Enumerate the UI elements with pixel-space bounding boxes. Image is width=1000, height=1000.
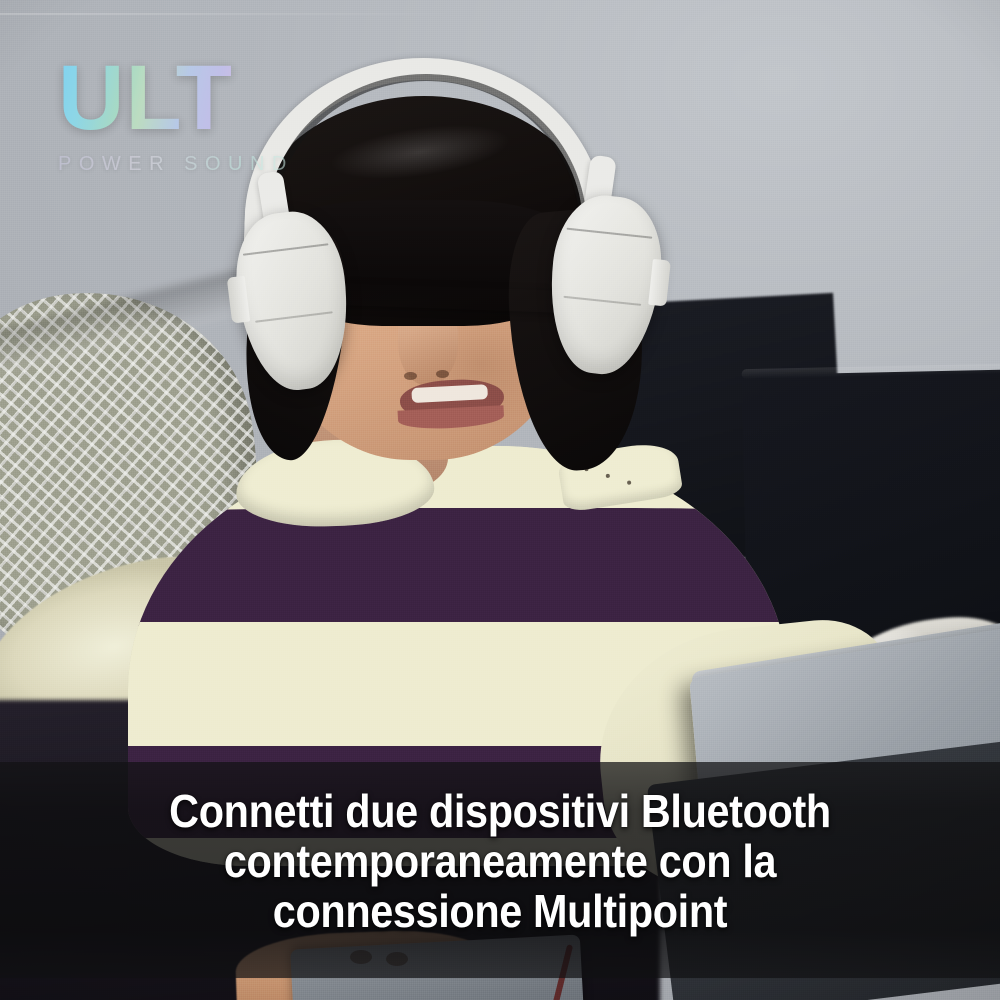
shirt-button-2 (606, 474, 611, 479)
teeth (411, 384, 488, 403)
ult-wordmark: ULT (58, 52, 318, 144)
earcup-seam-right (567, 228, 653, 239)
wall-seam-line (0, 13, 460, 15)
ult-tagline: POWER SOUND (58, 153, 318, 176)
nostril-right (436, 370, 449, 378)
caption-text: Connetti due dispositivi Bluetooth conte… (50, 786, 950, 936)
earcup-seam-left (243, 243, 329, 255)
shirt-button-3 (627, 480, 632, 485)
earcup-seam2-right (563, 296, 641, 306)
product-lifestyle-image: ULT POWER SOUND Connetti due dispositivi… (0, 0, 1000, 1000)
ult-brand-logo: ULT POWER SOUND (58, 52, 318, 176)
nostril-left (404, 372, 417, 380)
caption-line-3: connessione Multipoint (104, 886, 896, 936)
caption-line-1: Connetti due dispositivi Bluetooth (104, 786, 896, 836)
shirt-stripe-purple-1 (128, 508, 788, 626)
caption-line-2: contemporaneamente con la (104, 836, 896, 886)
earcup-seam2-left (255, 311, 333, 322)
